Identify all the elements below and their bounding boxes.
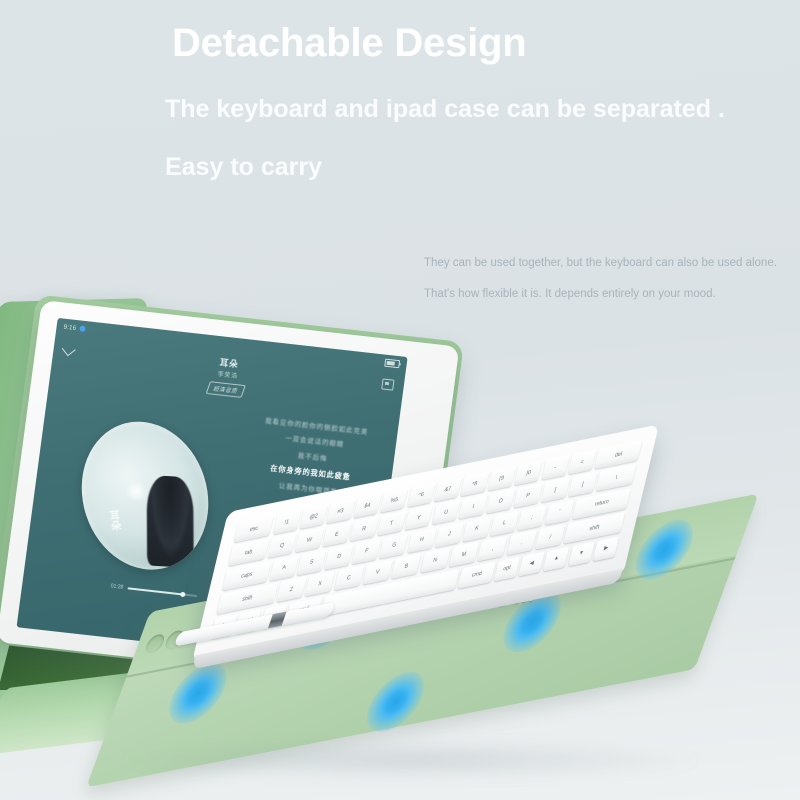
- key[interactable]: cmd: [458, 561, 495, 588]
- headline-block: Detachable Design The keyboard and ipad …: [0, 0, 800, 182]
- key[interactable]: @2: [299, 504, 328, 529]
- key[interactable]: )0: [514, 460, 543, 485]
- key[interactable]: S: [297, 550, 326, 575]
- progress-handle[interactable]: [180, 592, 186, 598]
- key-arrow-left[interactable]: ◀: [518, 551, 545, 576]
- key[interactable]: ,: [477, 536, 508, 562]
- key[interactable]: (9: [487, 466, 516, 491]
- key[interactable]: C: [334, 565, 365, 591]
- key[interactable]: M: [449, 542, 480, 568]
- description-line-2: That's how flexible it is. It depends en…: [424, 287, 800, 303]
- audio-quality-badge[interactable]: 超清音质: [206, 381, 246, 398]
- description-line-1: They can be used together, but the keybo…: [424, 256, 800, 272]
- key[interactable]: Z: [276, 577, 307, 603]
- key[interactable]: O: [486, 489, 515, 514]
- page-title: Detachable Design: [172, 18, 800, 68]
- key[interactable]: F: [352, 539, 381, 564]
- key[interactable]: ]: [568, 472, 597, 497]
- key[interactable]: K: [462, 516, 491, 541]
- key[interactable]: -: [541, 455, 570, 480]
- key[interactable]: ^6: [407, 482, 436, 507]
- key[interactable]: A: [269, 556, 298, 581]
- album-art-highlight: [123, 481, 150, 503]
- key[interactable]: B: [391, 553, 422, 579]
- playback-progress[interactable]: 01:28: [110, 583, 197, 599]
- key[interactable]: R: [349, 516, 378, 541]
- key[interactable]: I: [459, 494, 488, 519]
- album-art-disc[interactable]: 耳朵: [72, 417, 219, 574]
- key[interactable]: V: [362, 559, 393, 585]
- key[interactable]: &7: [434, 477, 463, 502]
- product-banner: Detachable Design The keyboard and ipad …: [0, 0, 800, 800]
- elapsed-time: 01:28: [110, 583, 123, 590]
- album-art-title: 耳朵: [104, 510, 122, 533]
- key[interactable]: ;: [517, 505, 546, 530]
- status-bar-left: 9:16: [63, 323, 85, 332]
- key[interactable]: $4: [353, 493, 382, 518]
- key[interactable]: H: [407, 528, 436, 553]
- key[interactable]: .: [506, 530, 537, 556]
- key[interactable]: J: [435, 522, 464, 547]
- battery-icon: [384, 359, 400, 369]
- description-block: They can be used together, but the keybo…: [424, 256, 800, 317]
- key[interactable]: Y: [404, 505, 433, 530]
- key[interactable]: L: [490, 511, 519, 536]
- key[interactable]: E: [322, 522, 351, 547]
- subheading-secondary: Easy to carry: [165, 152, 800, 182]
- progress-fill: [127, 587, 181, 595]
- key[interactable]: D: [324, 544, 353, 569]
- subheading-primary: The keyboard and ipad case can be separa…: [165, 94, 800, 124]
- key[interactable]: U: [431, 500, 460, 525]
- key[interactable]: opt: [494, 556, 521, 581]
- status-bar-right: [384, 359, 400, 369]
- key[interactable]: Q: [267, 533, 296, 558]
- key[interactable]: %5: [380, 488, 409, 513]
- pencil-metal-band: [268, 612, 287, 629]
- key[interactable]: !1: [272, 509, 301, 534]
- key[interactable]: G: [379, 533, 408, 558]
- progress-track[interactable]: [127, 587, 197, 596]
- key[interactable]: W: [295, 528, 324, 553]
- key[interactable]: ': [545, 500, 574, 525]
- battery-fill: [386, 361, 394, 366]
- key[interactable]: N: [420, 548, 451, 574]
- key[interactable]: X: [305, 571, 336, 597]
- key[interactable]: =: [568, 449, 597, 474]
- key-arrow-up[interactable]: ▲: [543, 546, 570, 571]
- key[interactable]: *8: [460, 471, 489, 496]
- album-art-portrait: [146, 475, 193, 568]
- product-ground-shadow: [110, 740, 710, 780]
- wifi-icon: [79, 325, 86, 332]
- key[interactable]: #3: [326, 498, 355, 523]
- key-arrow-down[interactable]: ▼: [568, 541, 595, 566]
- clock-label: 9:16: [63, 323, 77, 331]
- key[interactable]: T: [377, 511, 406, 536]
- key[interactable]: P: [513, 483, 542, 508]
- key[interactable]: /: [535, 524, 566, 550]
- key[interactable]: [: [541, 478, 570, 503]
